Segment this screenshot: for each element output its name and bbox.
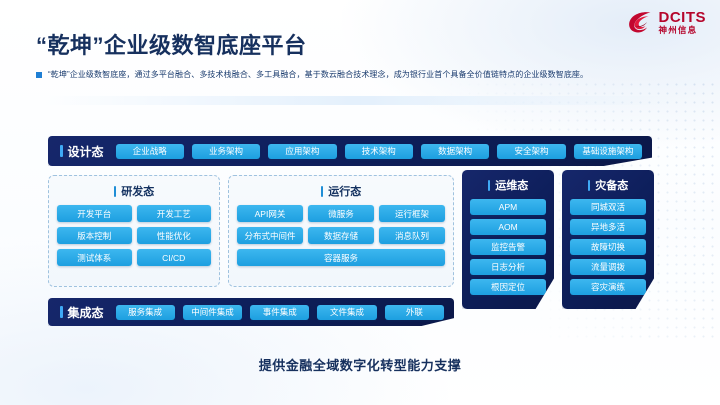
design-chip-enterprise-strategy[interactable]: 企业战略 xyxy=(116,144,184,159)
accent-tick-icon xyxy=(114,186,117,197)
subtitle-row: “乾坤”企业级数智底座，通过多平台融合、多技术栈融合、多工具融合，基于数云融合技… xyxy=(36,69,588,80)
dev-chip-dev-process[interactable]: 开发工艺 xyxy=(137,205,212,222)
integration-state-label-text: 集成态 xyxy=(68,304,104,321)
integration-chip-service-integration[interactable]: 服务集成 xyxy=(116,305,175,320)
page-title: “乾坤”企业级数智底座平台 xyxy=(36,28,307,60)
dr-state-title-text: 灾备态 xyxy=(595,177,628,193)
dev-chip-dev-platform[interactable]: 开发平台 xyxy=(57,205,132,222)
run-chip-runtime-framework[interactable]: 运行框架 xyxy=(379,205,445,222)
accent-tick-icon xyxy=(321,186,324,197)
design-chip-security-architecture[interactable]: 安全架构 xyxy=(497,144,565,159)
integration-chip-file-integration[interactable]: 文件集成 xyxy=(317,305,376,320)
run-chip-microservice[interactable]: 微服务 xyxy=(308,205,374,222)
ops-state-panel: 运维态 APM AOM 监控告警 日志分析 根因定位 xyxy=(462,170,554,309)
integration-state-row: 集成态 服务集成 中间件集成 事件集成 文件集成 外联 xyxy=(48,298,454,326)
dev-state-items: 开发平台 开发工艺 版本控制 性能优化 测试体系 CI/CD xyxy=(57,205,211,266)
dev-state-panel: 研发态 开发平台 开发工艺 版本控制 性能优化 测试体系 CI/CD xyxy=(48,175,220,287)
accent-tick-icon xyxy=(588,180,591,191)
ops-chip-apm[interactable]: APM xyxy=(470,199,546,215)
design-chip-application-architecture[interactable]: 应用架构 xyxy=(268,144,336,159)
dev-state-title: 研发态 xyxy=(57,183,211,199)
design-chip-business-architecture[interactable]: 业务架构 xyxy=(192,144,260,159)
run-state-panel: 运行态 API网关 微服务 运行框架 分布式中间件 数据存储 消息队列 容器服务 xyxy=(228,175,454,287)
accent-tick-icon xyxy=(60,306,63,318)
dev-chip-cicd[interactable]: CI/CD xyxy=(137,249,212,266)
brand-logo: DCITS 神州信息 xyxy=(628,10,707,35)
accent-tick-icon xyxy=(488,180,491,191)
dcits-swoosh-logo-icon xyxy=(628,10,654,34)
design-chip-technical-architecture[interactable]: 技术架构 xyxy=(345,144,413,159)
design-state-label: 设计态 xyxy=(60,143,104,160)
run-chip-api-gateway[interactable]: API网关 xyxy=(237,205,303,222)
dr-chip-traffic-scheduling[interactable]: 流量调拨 xyxy=(570,259,646,275)
dr-state-items: 同城双活 异地多活 故障切换 流量调拨 容灾演练 xyxy=(570,199,646,295)
dev-chip-version-control[interactable]: 版本控制 xyxy=(57,227,132,244)
run-chip-container-service[interactable]: 容器服务 xyxy=(237,249,445,266)
dev-state-title-text: 研发态 xyxy=(121,183,154,199)
design-state-row: 设计态 企业战略 业务架构 应用架构 技术架构 数据架构 安全架构 基础设施架构 xyxy=(48,136,652,166)
dr-chip-same-city-active-active[interactable]: 同城双活 xyxy=(570,199,646,215)
integration-chip-event-integration[interactable]: 事件集成 xyxy=(250,305,309,320)
run-chip-data-storage[interactable]: 数据存储 xyxy=(308,227,374,244)
dr-chip-remote-multi-active[interactable]: 异地多活 xyxy=(570,219,646,235)
platform-architecture-diagram: 设计态 企业战略 业务架构 应用架构 技术架构 数据架构 安全架构 基础设施架构… xyxy=(0,128,720,343)
accent-tick-icon xyxy=(60,145,63,157)
disaster-recovery-panel: 灾备态 同城双活 异地多活 故障切换 流量调拨 容灾演练 xyxy=(562,170,654,309)
square-bullet-icon xyxy=(36,72,42,78)
run-state-title-text: 运行态 xyxy=(328,183,361,199)
dr-state-title: 灾备态 xyxy=(570,177,646,193)
ops-state-items: APM AOM 监控告警 日志分析 根因定位 xyxy=(470,199,546,295)
dr-chip-dr-drill[interactable]: 容灾演练 xyxy=(570,279,646,295)
design-state-label-text: 设计态 xyxy=(68,143,104,160)
integration-chip-middleware-integration[interactable]: 中间件集成 xyxy=(183,305,242,320)
run-state-items: API网关 微服务 运行框架 分布式中间件 数据存储 消息队列 容器服务 xyxy=(237,205,445,266)
ops-chip-root-cause-analysis[interactable]: 根因定位 xyxy=(470,279,546,295)
run-state-title: 运行态 xyxy=(237,183,445,199)
ops-chip-aom[interactable]: AOM xyxy=(470,219,546,235)
run-chip-message-queue[interactable]: 消息队列 xyxy=(379,227,445,244)
design-chip-data-architecture[interactable]: 数据架构 xyxy=(421,144,489,159)
run-chip-distributed-middleware[interactable]: 分布式中间件 xyxy=(237,227,303,244)
integration-state-label: 集成态 xyxy=(60,304,104,321)
dev-chip-test-system[interactable]: 测试体系 xyxy=(57,249,132,266)
dr-chip-failover[interactable]: 故障切换 xyxy=(570,239,646,255)
decorative-banner-strip xyxy=(42,96,678,105)
ops-chip-log-analysis[interactable]: 日志分析 xyxy=(470,259,546,275)
ops-state-title-text: 运维态 xyxy=(495,177,528,193)
ops-chip-monitoring-alert[interactable]: 监控告警 xyxy=(470,239,546,255)
logo-wordmark-cn: 神州信息 xyxy=(659,26,707,35)
page-subtitle: “乾坤”企业级数智底座，通过多平台融合、多技术栈融合、多工具融合，基于数云融合技… xyxy=(48,69,588,80)
dev-chip-performance-optimization[interactable]: 性能优化 xyxy=(137,227,212,244)
design-chip-infrastructure-architecture[interactable]: 基础设施架构 xyxy=(574,144,642,159)
logo-wordmark-en: DCITS xyxy=(659,10,707,25)
footer-note: 提供金融全域数字化转型能力支撑 xyxy=(0,355,720,374)
integration-chip-external-connection[interactable]: 外联 xyxy=(385,305,444,320)
ops-state-title: 运维态 xyxy=(470,177,546,193)
